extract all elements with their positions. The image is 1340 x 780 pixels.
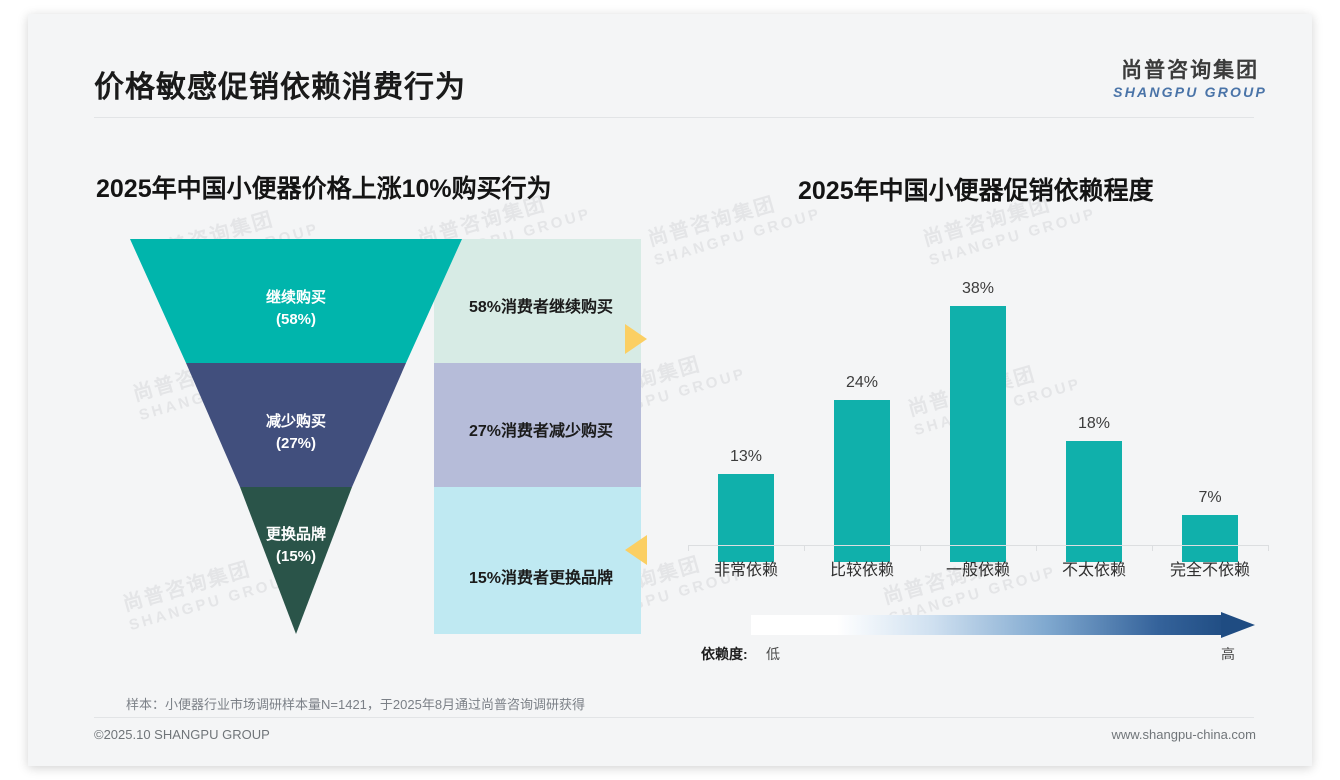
- bar-chart: 13% 24% 38% 18% 7%: [688, 262, 1268, 562]
- bar-value-label: 38%: [928, 280, 1028, 298]
- x-axis-category-label: 不太依赖: [1036, 556, 1152, 580]
- footer-divider: [94, 717, 1254, 718]
- funnel-tier-3-label: 更换品牌 (15%): [226, 524, 366, 568]
- funnel-tier-3-value: (15%): [276, 548, 316, 565]
- legend-high-label: 高: [1221, 644, 1235, 664]
- copyright-text: ©2025.10 SHANGPU GROUP: [94, 727, 270, 742]
- x-axis-category-label: 一般依赖: [920, 556, 1036, 580]
- bar-value-label: 24%: [812, 374, 912, 392]
- funnel-tier-2-value: (27%): [276, 435, 316, 452]
- bar: [1066, 441, 1122, 562]
- bar-column: 24%: [812, 262, 912, 562]
- bar-value-label: 13%: [696, 448, 796, 466]
- legend-title: 依赖度:: [701, 644, 748, 664]
- funnel-tier-1-label: 继续购买 (58%): [226, 287, 366, 331]
- axis-tick: [688, 545, 689, 551]
- bar: [950, 306, 1006, 562]
- funnel-side-panel-3: [434, 487, 641, 634]
- bar-value-label: 7%: [1160, 489, 1260, 507]
- logo-chinese-text: 尚普咨询集团: [1113, 60, 1267, 81]
- axis-tick: [1036, 545, 1037, 551]
- x-axis-line: [688, 545, 1268, 546]
- dependency-gradient-legend: [751, 612, 1271, 638]
- bar-column: 13%: [696, 262, 796, 562]
- funnel-tier-1-value: (58%): [276, 311, 316, 328]
- sample-note: 样本：小便器行业市场调研样本量N=1421，于2025年8月通过尚普咨询调研获得: [126, 694, 585, 713]
- bar-column: 38%: [928, 262, 1028, 562]
- gradient-bar: [751, 615, 1229, 635]
- bar-column: 18%: [1044, 262, 1144, 562]
- legend-low-label: 低: [766, 644, 780, 664]
- watermark-en: SHANGPU GROUP: [652, 205, 824, 271]
- funnel-side-text-3: 15%消费者更换品牌: [469, 564, 613, 588]
- funnel-side-text-2: 27%消费者减少购买: [469, 417, 613, 441]
- funnel-tier-3-name: 更换品牌: [266, 526, 326, 543]
- x-axis-category-label: 比较依赖: [804, 556, 920, 580]
- slide-frame: 尚普咨询集团 SHANGPU GROUP 尚普咨询集团 SHANGPU GROU…: [28, 14, 1312, 766]
- bar-column: 7%: [1160, 262, 1260, 562]
- x-axis-category-label: 完全不依赖: [1152, 556, 1268, 580]
- axis-tick: [920, 545, 921, 551]
- page-title: 价格敏感促销依赖消费行为: [94, 62, 466, 106]
- bar-value-label: 18%: [1044, 415, 1144, 433]
- axis-tick: [1152, 545, 1153, 551]
- slide: 尚普咨询集团 SHANGPU GROUP 尚普咨询集团 SHANGPU GROU…: [28, 14, 1312, 766]
- header-divider: [94, 117, 1254, 118]
- funnel-chart: 继续购买 (58%) 减少购买 (27%) 更换品牌 (15%) 58%消费者继…: [96, 239, 641, 634]
- right-chart-title: 2025年中国小便器促销依赖程度: [798, 171, 1154, 207]
- watermark-cn: 尚普咨询集团: [645, 181, 818, 253]
- bar: [1182, 515, 1238, 562]
- funnel-side-text-1: 58%消费者继续购买: [469, 293, 613, 317]
- gradient-arrow-head-icon: [1221, 612, 1255, 638]
- bar: [834, 400, 890, 562]
- watermark-en: SHANGPU GROUP: [927, 205, 1099, 271]
- funnel-tier-1-name: 继续购买: [266, 289, 326, 306]
- left-chart-title: 2025年中国小便器价格上涨10%购买行为: [96, 169, 552, 205]
- axis-tick: [1268, 545, 1269, 551]
- website-url[interactable]: www.shangpu-china.com: [1111, 727, 1256, 742]
- arrow-left-icon: [625, 535, 647, 565]
- logo-english-text: SHANGPU GROUP: [1113, 85, 1267, 99]
- x-axis-category-label: 非常依赖: [688, 556, 804, 580]
- slide-header: 价格敏感促销依赖消费行为 尚普咨询集团 SHANGPU GROUP: [28, 14, 1312, 116]
- bar: [718, 474, 774, 562]
- axis-tick: [804, 545, 805, 551]
- funnel-tier-2-label: 减少购买 (27%): [226, 411, 366, 455]
- brand-logo: 尚普咨询集团 SHANGPU GROUP: [1113, 60, 1267, 99]
- arrow-right-icon: [625, 324, 647, 354]
- funnel-tier-2-name: 减少购买: [266, 413, 326, 430]
